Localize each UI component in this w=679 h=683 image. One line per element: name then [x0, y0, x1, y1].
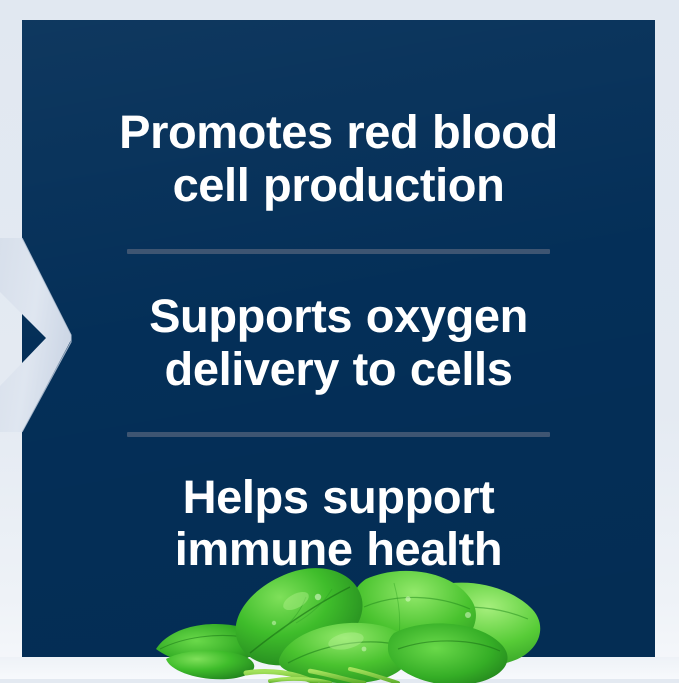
benefits-graphic: Promotes red blood cell production Suppo… — [0, 0, 679, 679]
panel-sheen — [22, 20, 655, 657]
base-band — [0, 657, 679, 679]
navy-panel — [22, 20, 655, 657]
